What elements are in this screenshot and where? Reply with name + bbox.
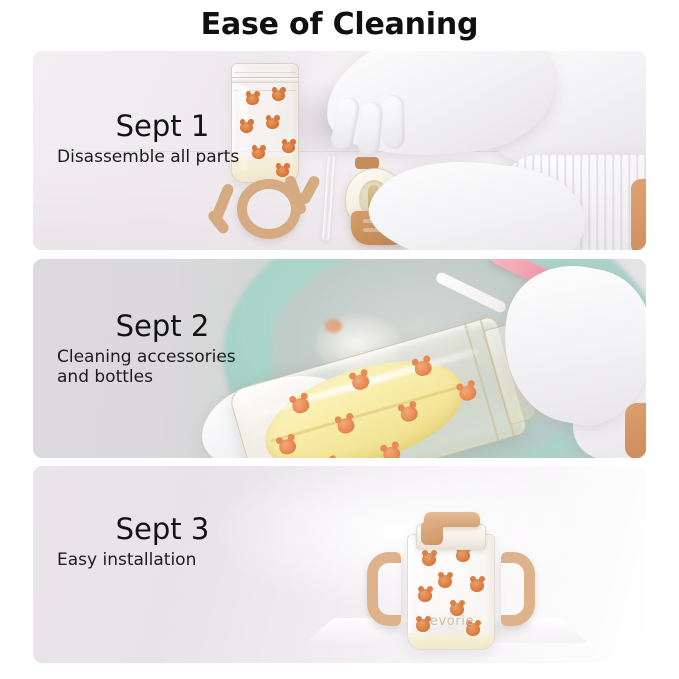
page-title: Ease of Cleaning: [0, 7, 679, 42]
sponge-seam: [271, 386, 458, 442]
step-1-text-block: Sept 1 Disassemble all parts: [55, 111, 270, 167]
product-infographic: Ease of Cleaning: [0, 0, 679, 679]
step-1-title: Sept 1: [55, 111, 270, 141]
bear-motif-icon: [422, 553, 436, 566]
bear-motif-icon: [272, 90, 285, 101]
forearm-skin: [625, 403, 646, 458]
step-card-3: evorie Sept 3 Easy installation: [33, 466, 646, 663]
bear-motif-icon: [456, 549, 470, 562]
bottle-handle-ring: [211, 169, 317, 243]
assembled-bottle: evorie: [407, 508, 495, 650]
step-1-description: Disassemble all parts: [55, 147, 270, 167]
step-card-2: Sept 2 Cleaning accessories and bottles: [33, 259, 646, 458]
step-card-1: Sept 1 Disassemble all parts: [33, 51, 646, 250]
step-2-description: Cleaning accessories and bottles: [55, 347, 270, 387]
bottle-glass-body: evorie: [407, 534, 495, 650]
bottle-handle-left: [367, 552, 401, 626]
bear-motif-icon: [418, 589, 432, 602]
glove-finger: [382, 95, 405, 149]
step-3-title: Sept 3: [55, 514, 270, 544]
bear-motif-icon: [246, 94, 259, 105]
bottle-latch-button: [421, 521, 443, 545]
jar-rim: [231, 77, 299, 83]
brand-label: evorie: [414, 614, 490, 629]
step-2-text-block: Sept 2 Cleaning accessories and bottles: [55, 311, 270, 388]
bottle-handle-right: [501, 552, 535, 626]
bear-motif-icon: [470, 579, 484, 592]
glove-finger: [357, 101, 384, 157]
bear-motif-icon: [325, 319, 342, 333]
glove-finger: [329, 95, 361, 152]
bear-motif-icon: [282, 142, 295, 153]
jar-thread-line: [234, 72, 296, 73]
forearm-skin: [631, 179, 646, 250]
step-3-text-block: Sept 3 Easy installation: [55, 514, 270, 570]
step-2-title: Sept 2: [55, 311, 270, 341]
bear-motif-icon: [438, 575, 452, 588]
step-3-description: Easy installation: [55, 550, 270, 570]
